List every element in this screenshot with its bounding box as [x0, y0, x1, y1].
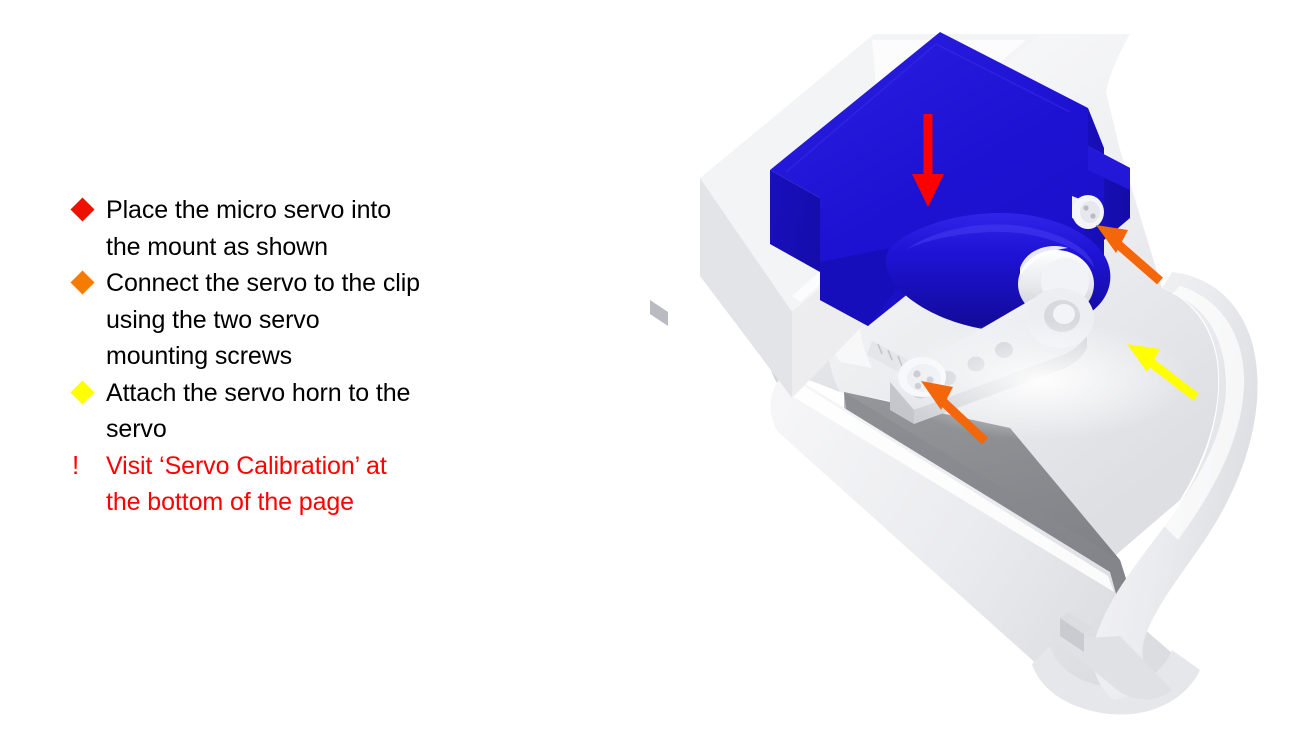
exclamation-bullet-icon: !	[72, 450, 79, 480]
instruction-text: Attach the servo horn to the servo	[106, 375, 468, 448]
diamond-bullet-yellow-icon	[70, 380, 94, 404]
list-item-warning: ! Visit ‘Servo Calibration’ at the botto…	[68, 448, 468, 521]
servo-assembly-render	[420, 0, 1289, 735]
list-item: Attach the servo horn to the servo	[68, 375, 468, 448]
diamond-bullet-orange-icon	[70, 270, 94, 294]
slide-canvas: Place the micro servo into the mount as …	[0, 0, 1289, 735]
screw-drive-hole	[1083, 205, 1088, 210]
screw-drive-hole	[1090, 213, 1095, 218]
instruction-text: Connect the servo to the clip using the …	[106, 265, 468, 375]
diamond-bullet-red-icon	[70, 197, 94, 221]
servo-mounting-screw-upper	[1072, 195, 1104, 229]
light-pool	[890, 320, 1190, 440]
instruction-list: Place the micro servo into the mount as …	[68, 192, 468, 521]
instruction-text-warning: Visit ‘Servo Calibration’ at the bottom …	[106, 448, 468, 521]
screw-head-face	[1080, 201, 1100, 223]
instruction-text: Place the micro servo into the mount as …	[106, 192, 468, 265]
list-item: Connect the servo to the clip using the …	[68, 265, 468, 375]
clip-channel-rib	[650, 300, 668, 326]
list-item: Place the micro servo into the mount as …	[68, 192, 468, 265]
